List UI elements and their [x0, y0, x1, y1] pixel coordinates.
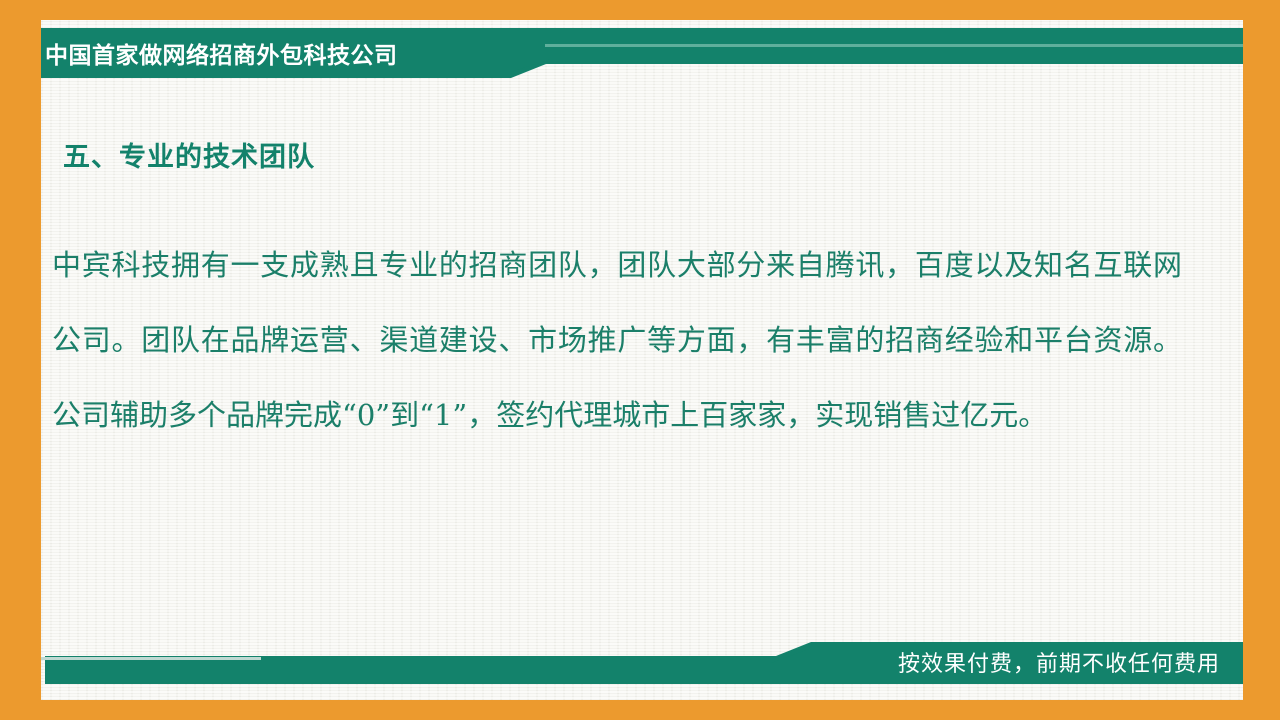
presentation-slide: 中国首家做网络招商外包科技公司 五、专业的技术团队 中宾科技拥有一支成熟且专业的…	[0, 0, 1280, 720]
body-paragraph: 中宾科技拥有一支成熟且专业的招商团队，团队大部分来自腾讯，百度以及知名互联网公司…	[52, 228, 1182, 453]
section-title: 五、专业的技术团队	[63, 135, 315, 174]
header-title: 中国首家做网络招商外包科技公司	[45, 36, 398, 70]
footer-tagline: 按效果付费，前期不收任何费用	[898, 646, 1220, 678]
header-accent-line	[545, 44, 1243, 47]
footer-accent-line	[41, 657, 261, 660]
